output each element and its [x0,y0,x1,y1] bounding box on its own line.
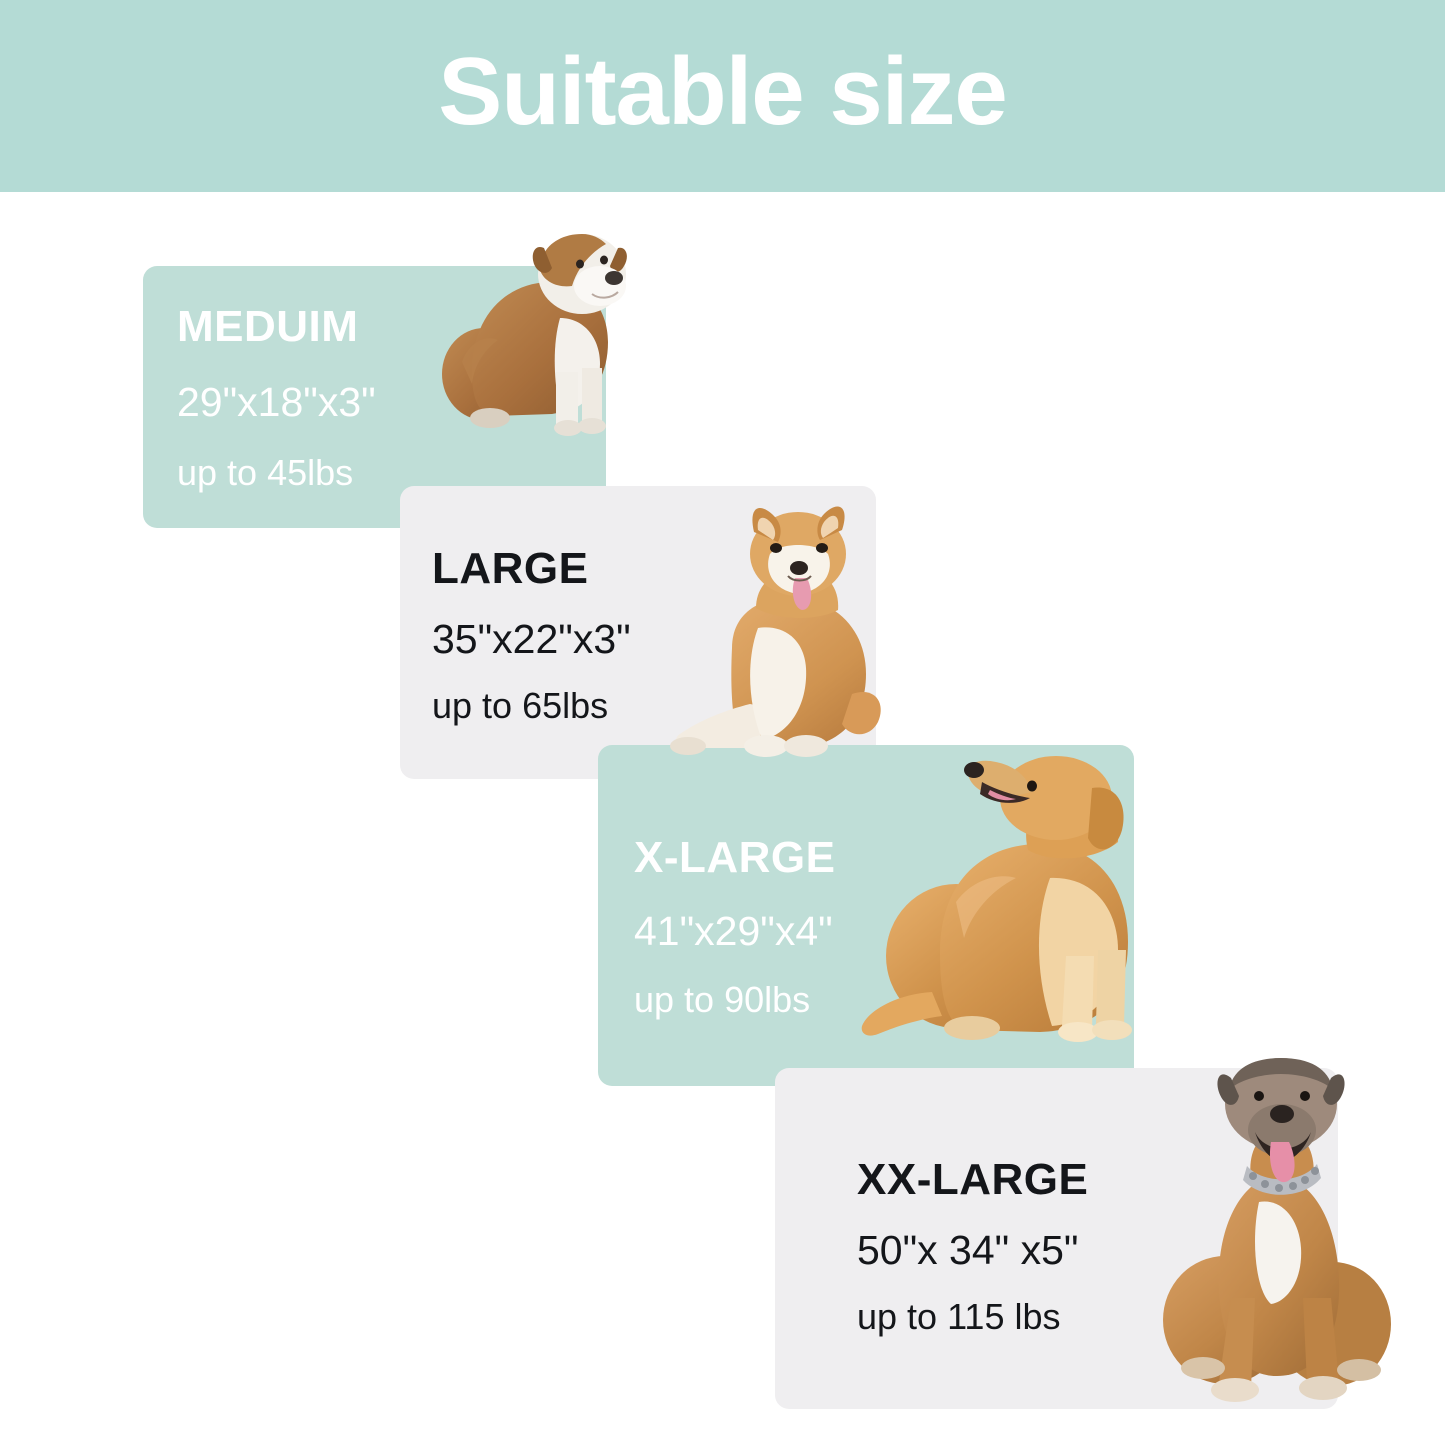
size-card-xlarge[interactable]: X-LARGE 41"x29"x4" up to 90lbs [598,745,1134,1086]
size-weight: up to 45lbs [177,454,376,492]
size-dimensions: 35"x22"x3" [432,618,631,661]
size-card-xxlarge[interactable]: XX-LARGE 50"x 34" x5" up to 115 lbs [775,1068,1338,1409]
size-weight: up to 90lbs [634,981,836,1019]
size-dimensions: 50"x 34" x5" [857,1229,1088,1272]
size-card-large[interactable]: LARGE 35"x22"x3" up to 65lbs [400,486,876,779]
size-card-medium-text: MEDUIM 29"x18"x3" up to 45lbs [177,308,376,488]
size-card-large-text: LARGE 35"x22"x3" up to 65lbs [432,538,631,733]
size-weight: up to 65lbs [432,687,631,725]
size-card-xxlarge-text: XX-LARGE 50"x 34" x5" up to 115 lbs [857,1144,1088,1349]
size-dimensions: 29"x18"x3" [177,381,376,424]
size-card-xlarge-text: X-LARGE 41"x29"x4" up to 90lbs [634,827,836,1027]
size-label: LARGE [432,546,631,592]
size-dimensions: 41"x29"x4" [634,910,836,953]
size-weight: up to 115 lbs [857,1298,1088,1336]
size-chart-page: Suitable size MEDUIM 29"x18"x3" up to 45… [0,0,1445,1440]
size-label: MEDUIM [177,304,376,350]
size-label: XX-LARGE [857,1157,1088,1203]
size-label: X-LARGE [634,835,836,881]
page-title: Suitable size [438,44,1007,148]
header-banner: Suitable size [0,0,1445,192]
